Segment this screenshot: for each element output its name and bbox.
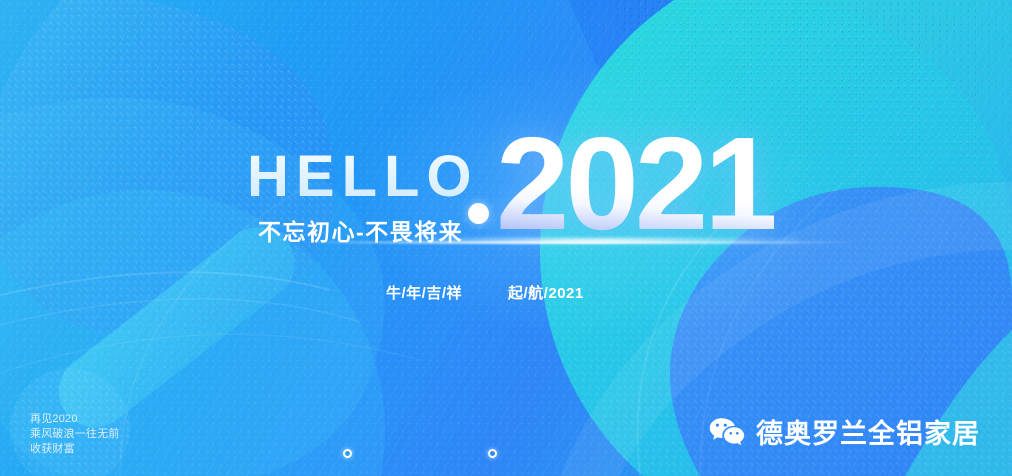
headline-block: HELLO 不忘初心-不畏将来 <box>247 148 479 247</box>
new-year-banner: HELLO 不忘初心-不畏将来 2021 牛/年/吉/祥 起/航/2021 再见… <box>0 0 1012 476</box>
year-number: 2021 <box>496 118 774 250</box>
year-block: 2021 <box>468 118 774 250</box>
separator-dot-icon <box>468 203 489 224</box>
headline-subtitle: 不忘初心-不畏将来 <box>258 213 479 247</box>
hello-word: HELLO <box>247 148 479 206</box>
slogan-item-2: 起/航/2021 <box>508 282 584 303</box>
slogan-item-1: 牛/年/吉/祥 <box>386 282 462 303</box>
slogan-row: 牛/年/吉/祥 起/航/2021 <box>386 282 584 303</box>
